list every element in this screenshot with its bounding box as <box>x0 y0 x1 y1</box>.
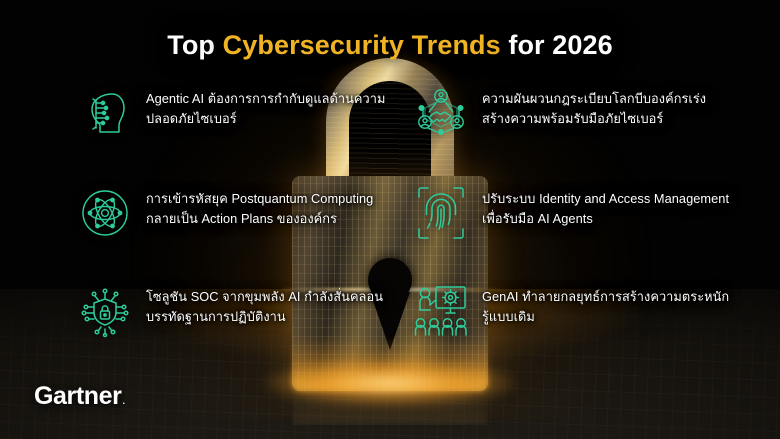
title-accent: Cybersecurity Trends <box>223 30 501 60</box>
gartner-wordmark: Gartner <box>34 382 122 410</box>
training-presentation-icon <box>412 282 470 340</box>
gartner-logo: Gartner. <box>34 382 125 411</box>
trend-item: ความผันผวนกฎระเบียบโลกบีบองค์กรเร่งสร้าง… <box>412 84 734 142</box>
trend-label: โซลูชัน SOC จากขุมพลัง AI กำลังสั่นคลอนบ… <box>146 282 388 327</box>
ai-head-circuit-icon <box>76 84 134 142</box>
trend-label: Agentic AI ต้องการการกำกับดูแลด้านความปล… <box>146 84 388 129</box>
shield-lock-circuit-icon <box>76 282 134 340</box>
trend-label: ปรับระบบ Identity and Access Management … <box>482 184 734 229</box>
trend-item: โซลูชัน SOC จากขุมพลัง AI กำลังสั่นคลอนบ… <box>76 282 388 340</box>
title-part-one: Top <box>167 30 222 60</box>
trend-item: Agentic AI ต้องการการกำกับดูแลด้านความปล… <box>76 84 388 142</box>
page-title: Top Cybersecurity Trends for 2026 <box>0 30 780 61</box>
title-part-two: for 2026 <box>501 30 613 60</box>
trends-grid: Agentic AI ต้องการการกำกับดูแลด้านความปล… <box>0 84 780 374</box>
trend-label: ความผันผวนกฎระเบียบโลกบีบองค์กรเร่งสร้าง… <box>482 84 734 129</box>
trend-item: ปรับระบบ Identity and Access Management … <box>412 184 734 242</box>
handshake-network-icon <box>412 84 470 142</box>
fingerprint-scan-icon <box>412 184 470 242</box>
trend-label: การเข้ารหัสยุค Postquantum Computing กลา… <box>146 184 388 229</box>
trend-label: GenAI ทำลายกลยุทธ์การสร้างความตระหนักรู้… <box>482 282 734 327</box>
trend-item: การเข้ารหัสยุค Postquantum Computing กลา… <box>76 184 388 242</box>
infographic-canvas: Top Cybersecurity Trends for 2026 <box>0 0 780 439</box>
registered-mark: . <box>123 396 125 406</box>
atom-quantum-icon <box>76 184 134 242</box>
trend-item: GenAI ทำลายกลยุทธ์การสร้างความตระหนักรู้… <box>412 282 734 340</box>
